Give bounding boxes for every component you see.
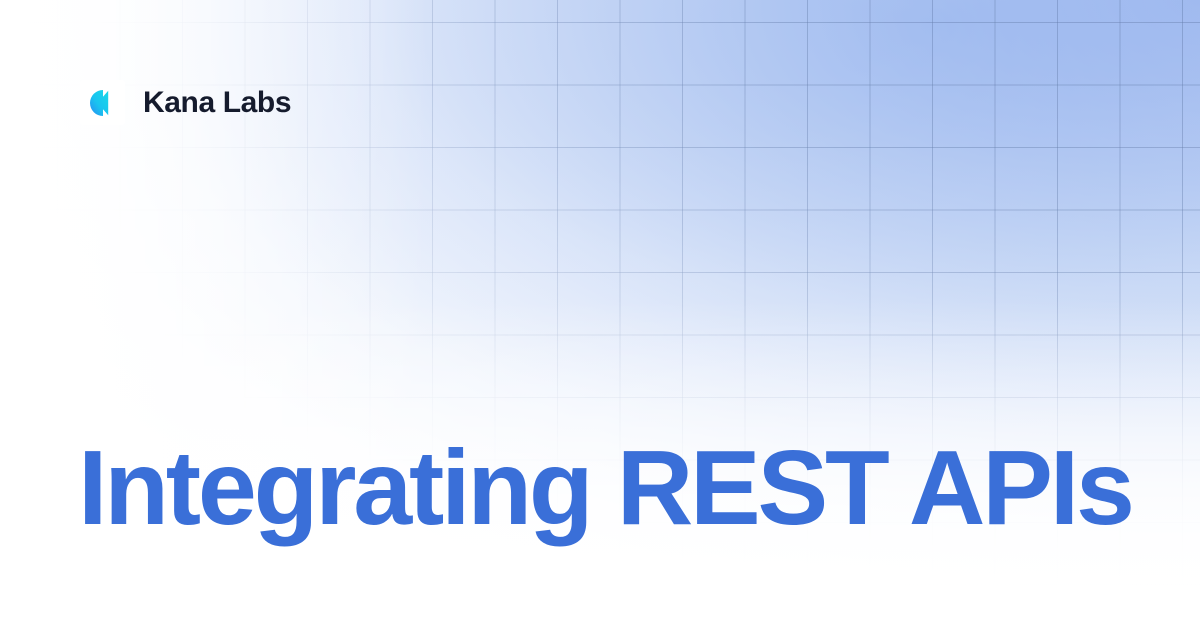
page-title: Integrating REST APIs [78,432,1122,544]
og-banner: Kana Labs Integrating REST APIs [0,0,1200,630]
brand-lockup: Kana Labs [80,80,291,125]
brand-name-label: Kana Labs [143,88,291,118]
kana-labs-logo-icon [88,88,118,118]
headline-block: Integrating REST APIs [78,432,1122,544]
brand-logo-plate [80,80,125,125]
